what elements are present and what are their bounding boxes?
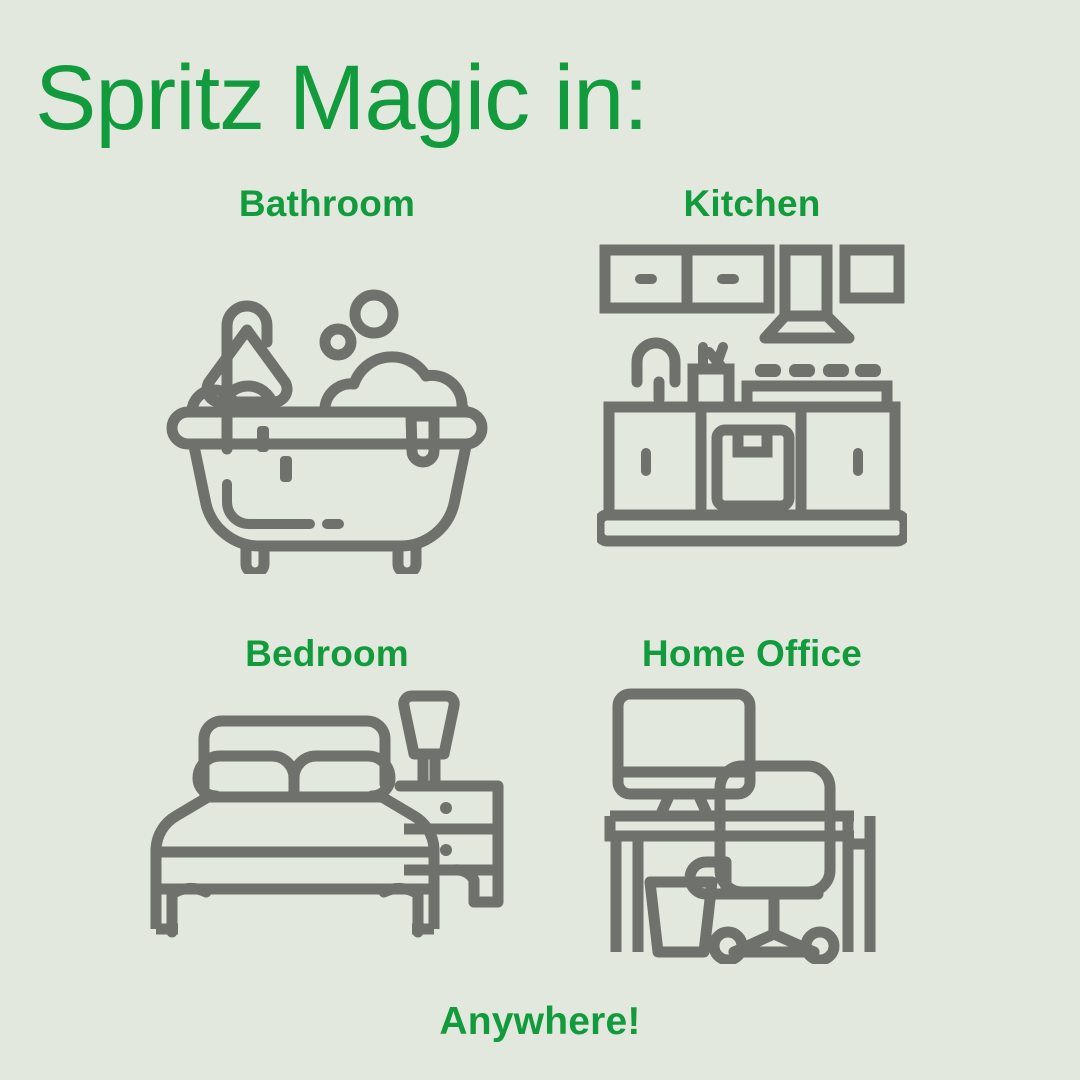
kitchen-icon: [597, 234, 907, 554]
room-label-bedroom: Bedroom: [245, 630, 409, 678]
bathtub-icon: [162, 234, 492, 574]
page-title: Spritz Magic in:: [35, 50, 648, 147]
bed-nightstand-icon: [142, 684, 512, 964]
room-card-kitchen: Kitchen: [527, 180, 977, 554]
room-label-bathroom: Bathroom: [239, 180, 415, 228]
poster-canvas: Spritz Magic in: Bathroom: [0, 0, 1080, 1080]
footer-label: Anywhere!: [0, 1000, 1080, 1044]
desk-chair-monitor-icon: [602, 684, 902, 964]
room-label-kitchen: Kitchen: [683, 180, 820, 228]
room-card-home-office: Home Office: [527, 630, 977, 964]
room-card-bedroom: Bedroom: [102, 630, 552, 964]
room-card-bathroom: Bathroom: [102, 180, 552, 574]
room-label-home-office: Home Office: [642, 630, 862, 678]
